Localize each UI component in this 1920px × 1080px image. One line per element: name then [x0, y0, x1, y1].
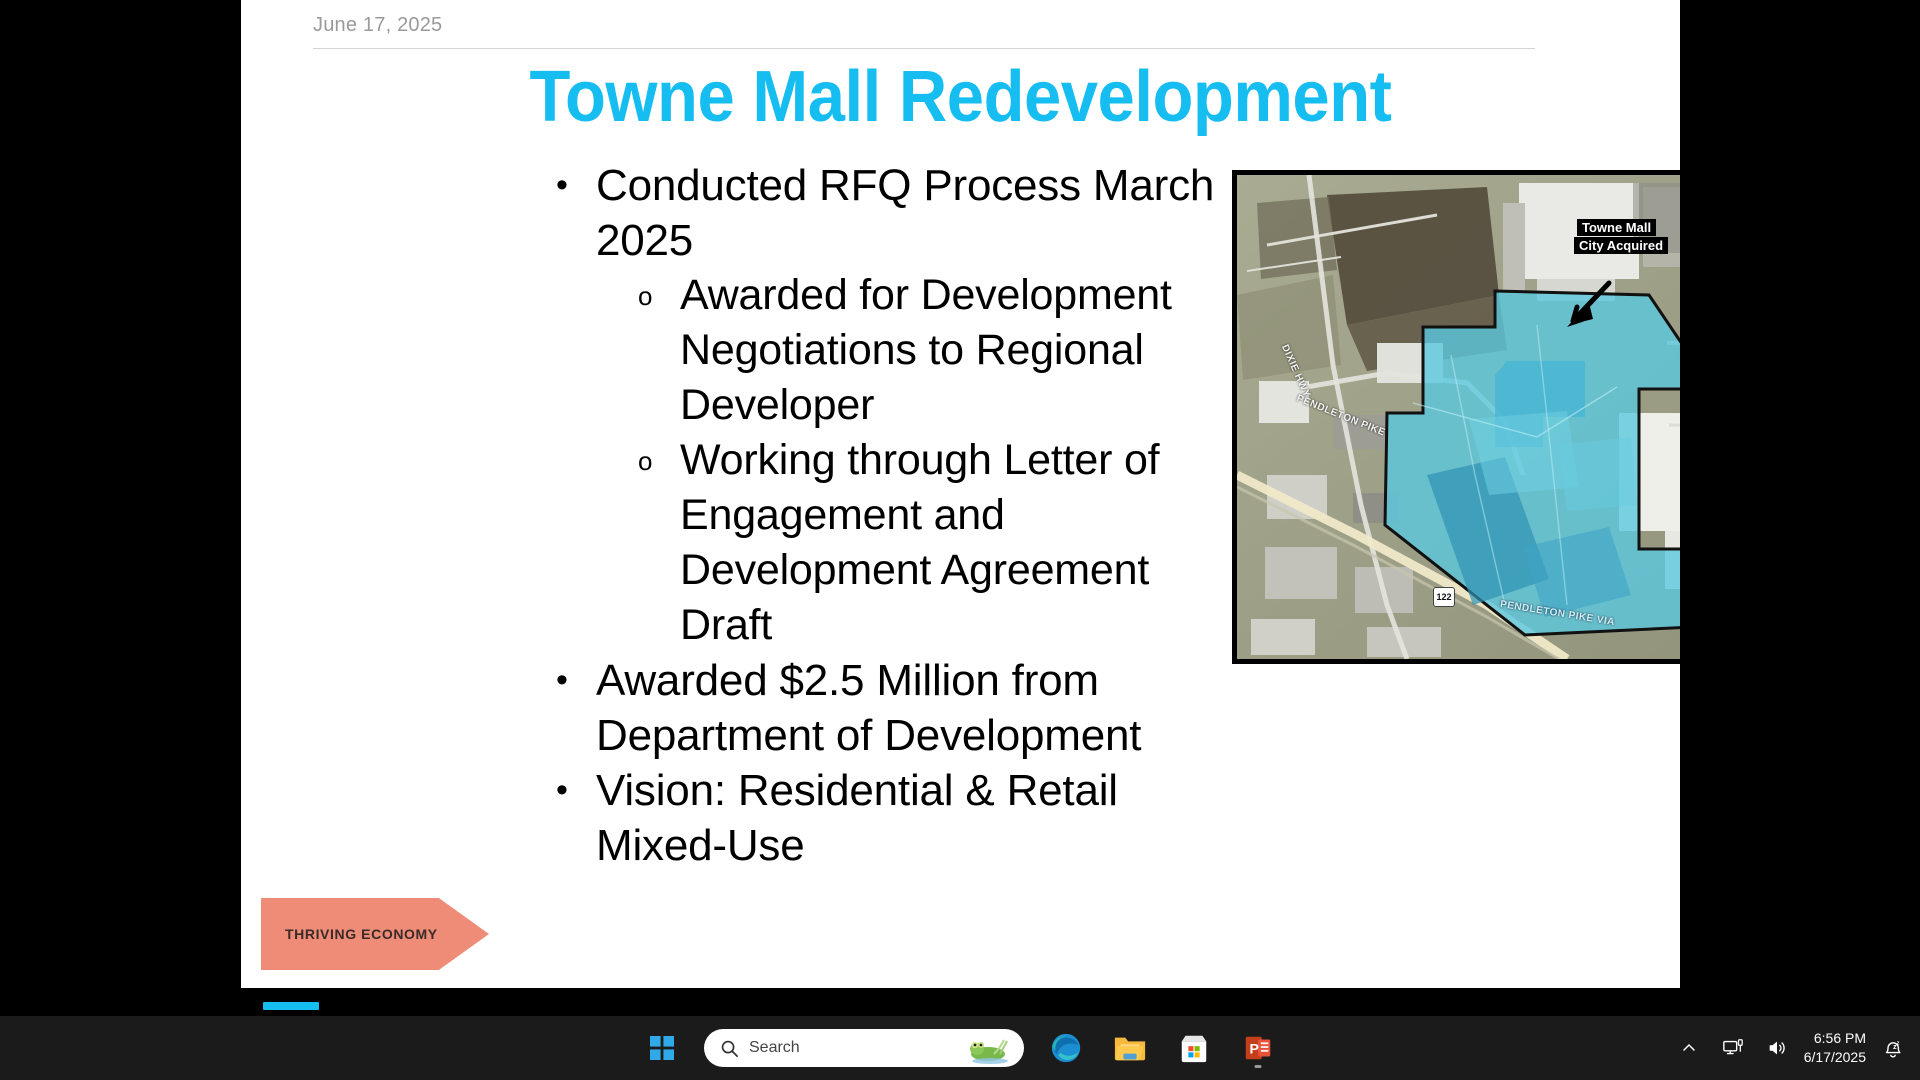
svg-text:P: P [1250, 1041, 1259, 1057]
notification-button[interactable]: z z [1876, 1031, 1910, 1065]
powerpoint-icon: P [1242, 1032, 1274, 1064]
windows-taskbar: Search [0, 1016, 1920, 1080]
map-callout-towne-mall: Towne Mall [1577, 219, 1656, 236]
chevron-up-icon [1681, 1040, 1697, 1056]
clock[interactable]: 6:56 PM 6/17/2025 [1804, 1029, 1866, 1067]
bullet-item: • Vision: Residential & Retail Mixed-Use [556, 763, 1221, 873]
ribbon-label: THRIVING ECONOMY [285, 926, 438, 942]
bullet-item: o Working through Letter of Engagement a… [638, 433, 1221, 653]
slide-bullet-list: • Conducted RFQ Process March 2025 o Awa… [556, 158, 1221, 873]
folder-icon [1113, 1032, 1147, 1064]
search-input[interactable]: Search [704, 1029, 1024, 1067]
bullet-marker: • [556, 158, 596, 212]
bullet-marker: o [638, 268, 680, 324]
progress-fill [263, 1002, 319, 1010]
bullet-text: Working through Letter of Engagement and… [680, 433, 1221, 653]
bullet-item: • Awarded $2.5 Million from Department o… [556, 653, 1221, 763]
bullet-text: Vision: Residential & Retail Mixed-Use [596, 763, 1221, 873]
file-explorer-button[interactable] [1108, 1026, 1152, 1070]
svg-text:z: z [1897, 1040, 1900, 1046]
bullet-text: Awarded $2.5 Million from Department of … [596, 653, 1221, 763]
presentation-slide[interactable]: June 17, 2025 Towne Mall Redevelopment •… [241, 0, 1680, 988]
windows-logo-icon [650, 1036, 674, 1060]
aerial-map-image: Towne Mall City Acquired DIXIE HWY PENDL… [1232, 170, 1680, 664]
show-hidden-icons-button[interactable] [1672, 1031, 1706, 1065]
clock-time: 6:56 PM [1804, 1029, 1866, 1048]
map-route-shield-122: 122 [1433, 587, 1455, 607]
taskbar-center-group: Search [640, 1016, 1280, 1080]
bullet-text: Conducted RFQ Process March 2025 [596, 158, 1221, 268]
powerpoint-button[interactable]: P [1236, 1026, 1280, 1070]
presentation-progress-bar[interactable] [241, 988, 1680, 1016]
slide-title: Towne Mall Redevelopment [291, 60, 1629, 135]
network-monitor-icon [1722, 1037, 1744, 1059]
edge-button[interactable] [1044, 1026, 1088, 1070]
bullet-marker: • [556, 653, 596, 707]
map-callout-city-acquired: City Acquired [1574, 237, 1668, 254]
app-running-indicator [1255, 1065, 1262, 1068]
edge-icon [1049, 1031, 1083, 1065]
slide-header-divider [313, 48, 1535, 49]
aerial-map-canvas: Towne Mall City Acquired DIXIE HWY PENDL… [1237, 175, 1680, 659]
volume-icon [1766, 1037, 1788, 1059]
bullet-item: o Awarded for Development Negotiations t… [638, 268, 1221, 433]
bullet-text: Awarded for Development Negotiations to … [680, 268, 1221, 433]
bullet-marker: o [638, 433, 680, 489]
frog-illustration-icon [964, 1032, 1016, 1064]
clock-date: 6/17/2025 [1804, 1048, 1866, 1067]
store-icon [1178, 1032, 1210, 1064]
microsoft-store-button[interactable] [1172, 1026, 1216, 1070]
start-button[interactable] [640, 1026, 684, 1070]
volume-button[interactable] [1760, 1031, 1794, 1065]
slide-date: June 17, 2025 [313, 14, 442, 37]
desktop-screen: June 17, 2025 Towne Mall Redevelopment •… [0, 0, 1920, 1080]
bullet-marker: • [556, 763, 596, 817]
search-icon [720, 1039, 739, 1058]
bullet-item: • Conducted RFQ Process March 2025 [556, 158, 1221, 268]
search-placeholder: Search [749, 1039, 800, 1057]
network-button[interactable] [1716, 1031, 1750, 1065]
system-tray: 6:56 PM 6/17/2025 z z [1672, 1016, 1910, 1080]
bell-do-not-disturb-icon: z z [1881, 1036, 1905, 1060]
thriving-economy-ribbon: THRIVING ECONOMY [261, 898, 489, 970]
